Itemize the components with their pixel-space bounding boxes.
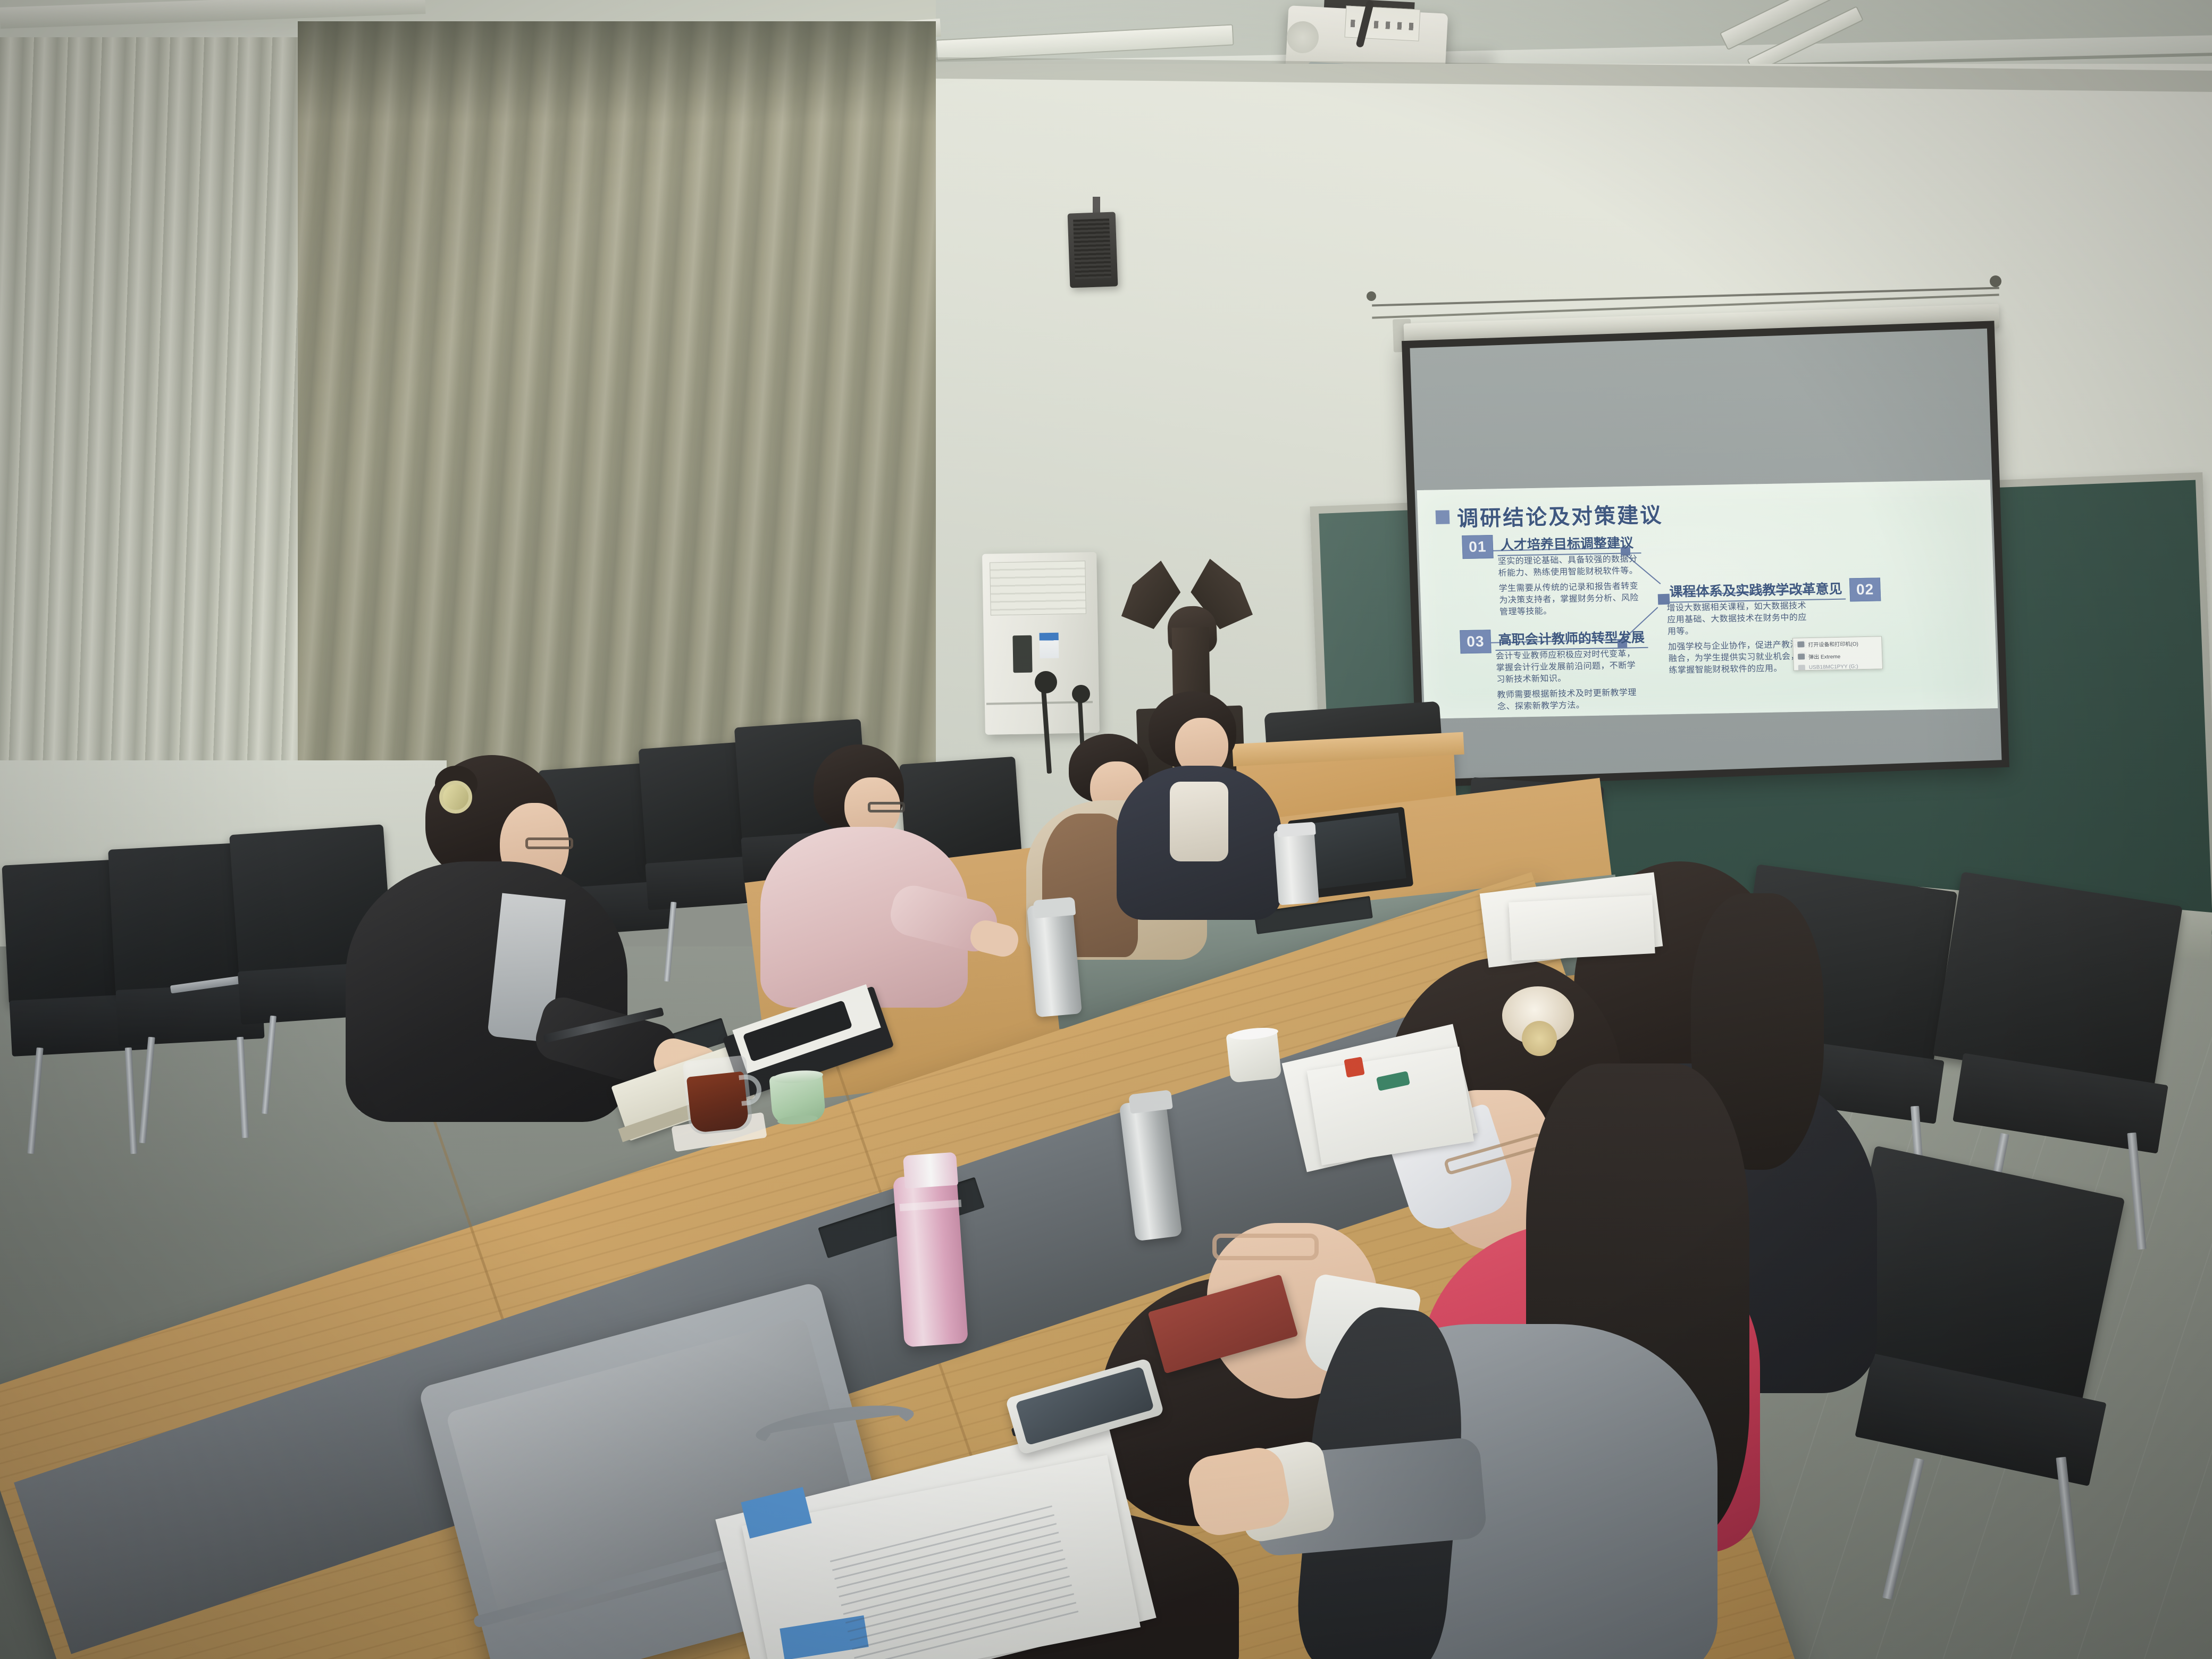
eyeglasses-icon xyxy=(1212,1234,1319,1260)
bottle-cap xyxy=(903,1152,958,1189)
windows-tray-popup[interactable]: 打开设备和打印机(O) 弹出 Extreme USB18MC1PYY (G:) xyxy=(1792,636,1883,671)
pink-water-bottle[interactable] xyxy=(893,1173,968,1347)
section-heading-01: 人才培养目标调整建议 xyxy=(1497,532,1641,556)
section-02-para-2: 加强学校与企业协作，促进产教深度融合，为学生提供实习就业机会，熟练掌握智能财税软… xyxy=(1668,639,1810,677)
cable-anchor xyxy=(1367,291,1376,301)
section-body-02: 增设大数据相关课程，如大数据技术应用基础、大数据技术在财务中的应用等。 加强学校… xyxy=(1666,600,1810,677)
attendee-dark-vest xyxy=(1101,691,1292,915)
metal-tumbler[interactable] xyxy=(1273,828,1319,906)
meeting-room-photo: 调研结论及对策建议 01 人才培养目标调整建议 坚实的理论基础、具备较强的数据分… xyxy=(0,0,2212,1659)
tray-menu-item-devices[interactable]: 打开设备和打印机(O) xyxy=(1793,636,1882,650)
tray-item-label: 弹出 Extreme xyxy=(1808,652,1841,660)
slide-title-row: 调研结论及对策建议 xyxy=(1435,498,1663,533)
curtain-top-shadow xyxy=(298,21,936,122)
section-badge-03: 03 xyxy=(1460,630,1491,653)
section-03-para-2: 教师需要根据新技术及时更新教学理念、探索新教学方法。 xyxy=(1497,687,1641,713)
section-heading-03: 高职会计教师的转型发展 xyxy=(1495,627,1648,651)
section-01-para-2: 学生需要从传统的记录和报告者转变为决策支持者，掌握财务分析、风险管理等技能。 xyxy=(1498,581,1643,618)
tray-item-label: 打开设备和打印机(O) xyxy=(1808,639,1858,648)
hair-clip-icon xyxy=(439,781,472,814)
small-red-object[interactable] xyxy=(1344,1057,1364,1077)
silver-thermos[interactable] xyxy=(1027,902,1082,1018)
eject-icon xyxy=(1798,653,1805,659)
section-body-03: 会计专业教师应积极应对时代变革，掌握会计行业发展前沿问题，不断学习新技术新知识。… xyxy=(1496,648,1641,713)
tray-item-label: USB18MC1PYY (G:) xyxy=(1809,664,1858,671)
section-body-01: 坚实的理论基础、具备较强的数据分析能力、熟练使用智能财税软件等。 学生需要从传统… xyxy=(1498,554,1644,618)
tray-menu-item-eject[interactable]: 弹出 Extreme xyxy=(1794,649,1882,663)
slide-title: 调研结论及对策建议 xyxy=(1456,498,1663,532)
slide-title-bullet-icon xyxy=(1436,510,1450,524)
microphone-icon[interactable] xyxy=(1072,685,1090,703)
cable-anchor xyxy=(1990,275,2001,287)
section-badge-02: 02 xyxy=(1849,577,1881,601)
attendee-black-jacket xyxy=(340,755,649,1117)
microphone-icon[interactable] xyxy=(1035,671,1057,693)
ac-display-panel xyxy=(1012,635,1032,673)
tumbler-lid xyxy=(1277,822,1316,837)
eyeglasses-icon xyxy=(525,837,573,849)
thermos-cap xyxy=(1033,897,1076,919)
section-badge-01: 01 xyxy=(1462,535,1493,559)
printer-icon xyxy=(1797,641,1804,647)
curtain-shading xyxy=(298,21,936,776)
paper-documents[interactable] xyxy=(1509,895,1655,961)
section-03-para-1: 会计专业教师应积极应对时代变革，掌握会计行业发展前沿问题，不断学习新技术新知识。 xyxy=(1496,648,1640,686)
air-vent-icon xyxy=(990,560,1086,615)
slide-section-01: 01 人才培养目标调整建议 坚实的理论基础、具备较强的数据分析能力、熟练使用智能… xyxy=(1462,532,1644,623)
ac-energy-label xyxy=(1040,633,1059,659)
slide-section-03: 03 高职会计教师的转型发展 会计专业教师应积极应对时代变革，掌握会计行业发展前… xyxy=(1460,627,1650,718)
chair[interactable] xyxy=(1850,1170,2127,1595)
attendee-pink-coat xyxy=(750,744,973,1000)
curtain-panel-left[interactable] xyxy=(0,37,330,814)
section-01-para-1: 坚实的理论基础、具备较强的数据分析能力、熟练使用智能财税软件等。 xyxy=(1498,554,1642,580)
drive-icon xyxy=(1798,665,1805,671)
section-heading-02: 课程体系及实践教学改革意见 xyxy=(1666,579,1846,603)
speaker-grille-icon xyxy=(1073,219,1111,279)
section-02-para-1: 增设大数据相关课程，如大数据技术应用基础、大数据技术在财务中的应用等。 xyxy=(1666,600,1808,638)
